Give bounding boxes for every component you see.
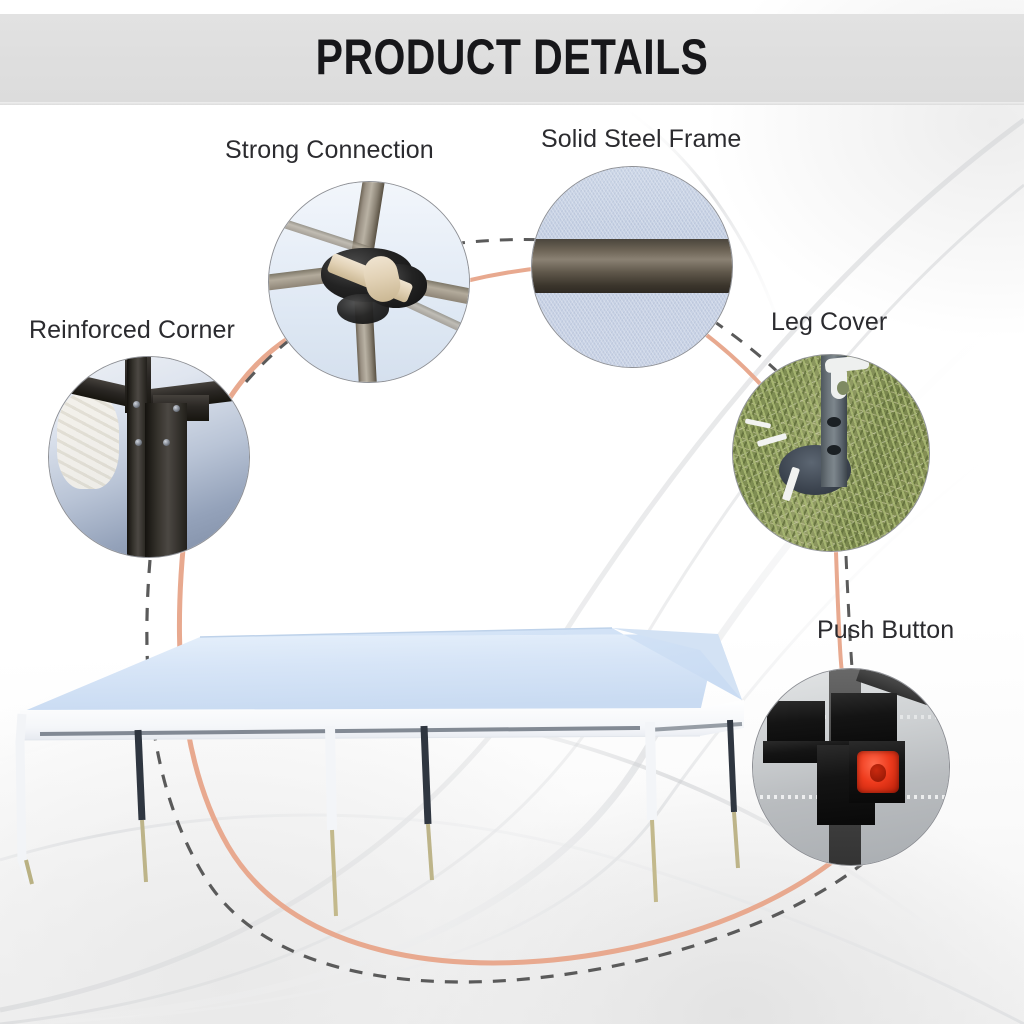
label-push-button: Push Button — [817, 616, 954, 645]
push-button-image — [753, 669, 949, 865]
leg-cover-image — [733, 355, 929, 551]
solid-steel-frame-image — [532, 167, 732, 367]
page-title: PRODUCT DETAILS — [92, 28, 932, 86]
label-solid-steel-frame: Solid Steel Frame — [541, 125, 741, 154]
detail-photo-push-button[interactable] — [752, 668, 950, 866]
detail-photo-leg-cover[interactable] — [732, 354, 930, 552]
reinforced-corner-image — [49, 357, 249, 557]
detail-photo-reinforced-corner[interactable] — [48, 356, 250, 558]
infographic-canvas: PRODUCT DETAILS — [0, 0, 1024, 1024]
label-strong-connection: Strong Connection — [225, 136, 434, 165]
detail-photo-strong-connection[interactable] — [268, 181, 470, 383]
label-reinforced-corner: Reinforced Corner — [29, 316, 235, 345]
strong-connection-image — [269, 182, 469, 382]
detail-photo-solid-steel-frame[interactable] — [531, 166, 733, 368]
label-leg-cover: Leg Cover — [771, 308, 887, 337]
